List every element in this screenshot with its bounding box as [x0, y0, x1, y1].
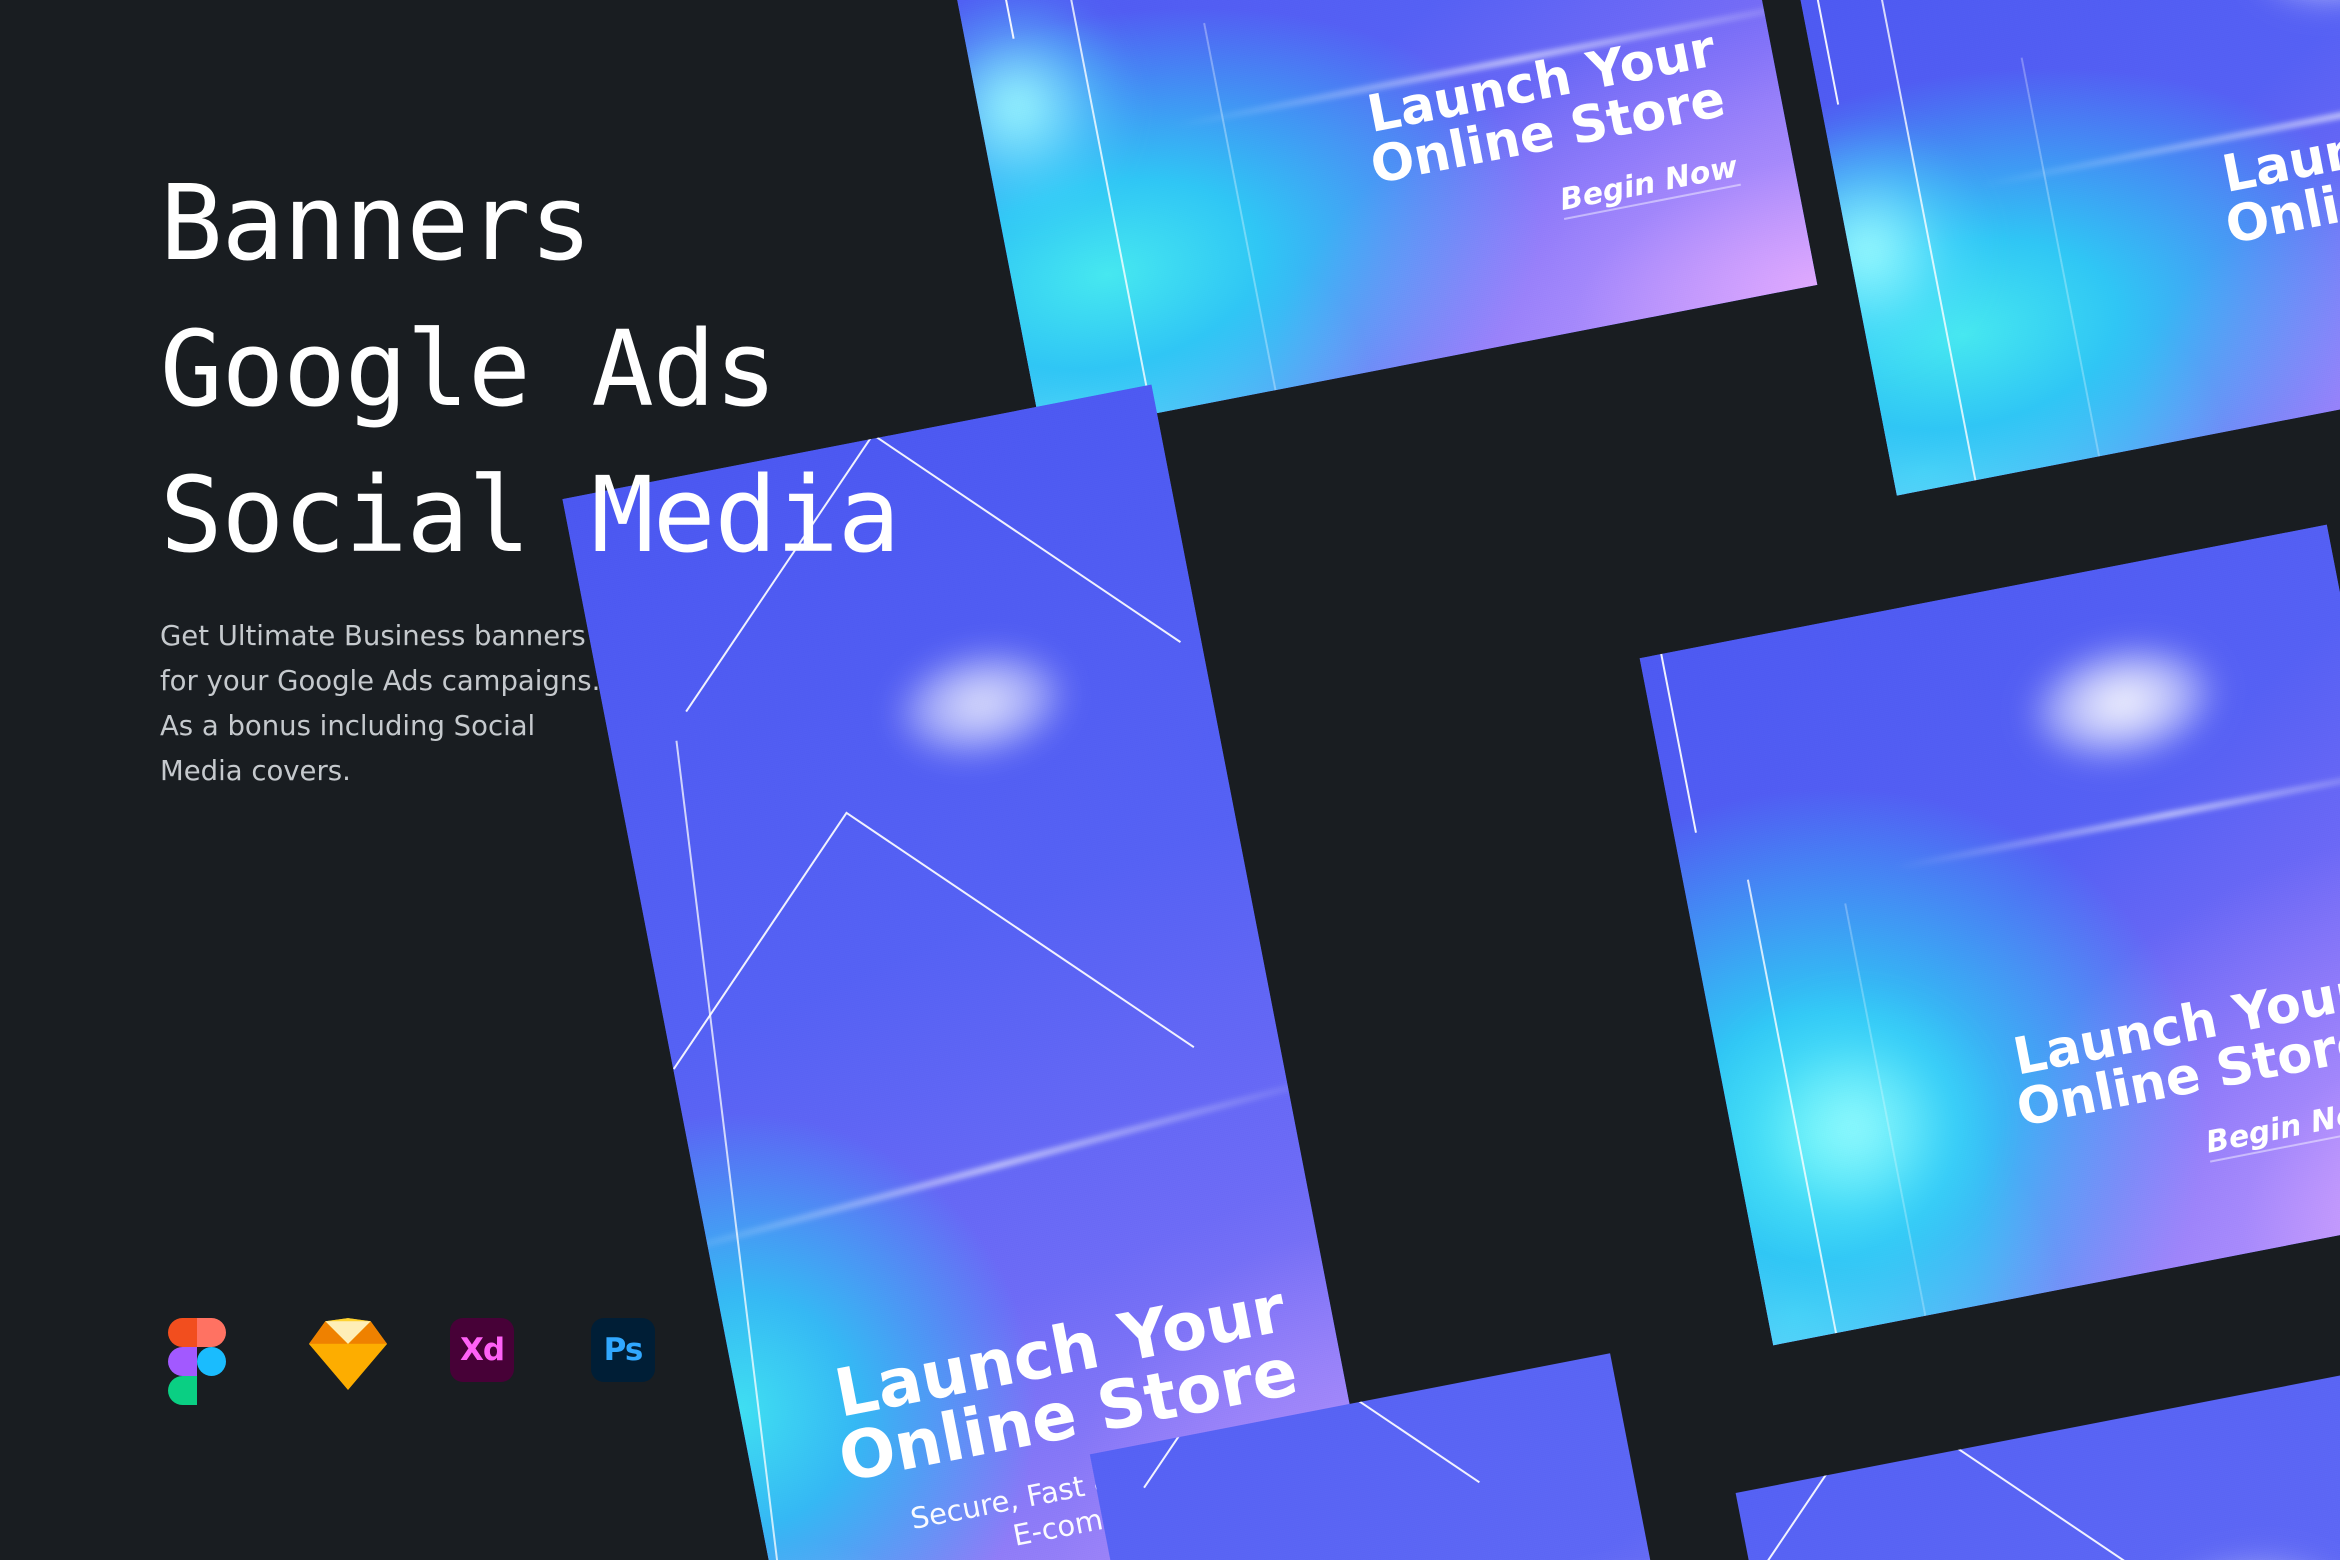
page-title: Banners Google Ads Social Media	[160, 150, 940, 588]
banner-card-landscape-right[interactable]: Launch Your Online Store Begin Now	[1798, 0, 2340, 496]
figma-shape-mid-right	[197, 1347, 226, 1376]
figma-shape-top-left	[168, 1318, 197, 1347]
banner-card-bottom-right-cropped[interactable]	[1736, 1375, 2340, 1560]
description-line-1: Get Ultimate Business banners	[160, 614, 680, 659]
sketch-diamond-glyph	[309, 1318, 387, 1390]
photoshop-icon[interactable]: Ps	[591, 1318, 663, 1390]
poster-canvas: Launch Your Online Store Begin Now Launc…	[0, 0, 2340, 1560]
banner-card-square-right[interactable]: Launch Your Online Store Begin Now	[1640, 525, 2340, 1346]
figma-shape-bottom-left	[168, 1376, 197, 1405]
description-line-3: As a bonus including Social	[160, 704, 680, 749]
figma-shape-top-right	[197, 1318, 226, 1347]
description-line-2: for your Google Ads campaigns.	[160, 659, 680, 704]
banner-card-landscape-top[interactable]: Launch Your Online Store Begin Now	[943, 0, 1818, 436]
description-line-4: Media covers.	[160, 749, 680, 794]
adobe-xd-icon[interactable]: Xd	[450, 1318, 522, 1390]
page-description: Get Ultimate Business banners for your G…	[160, 614, 680, 794]
figma-icon[interactable]	[168, 1318, 240, 1390]
glow-hotspot	[1449, 1524, 1690, 1560]
figma-shape-mid-left	[168, 1347, 197, 1376]
page-title-line-3: Social Media	[160, 442, 940, 588]
photoshop-label: Ps	[591, 1318, 655, 1382]
decor-chevron	[1757, 1395, 2136, 1560]
page-title-line-2: Google Ads	[160, 296, 940, 442]
sketch-icon[interactable]	[309, 1318, 381, 1390]
adobe-xd-label: Xd	[450, 1318, 514, 1382]
supported-apps-list: Xd Ps	[168, 1318, 663, 1390]
page-title-line-1: Banners	[160, 150, 940, 296]
